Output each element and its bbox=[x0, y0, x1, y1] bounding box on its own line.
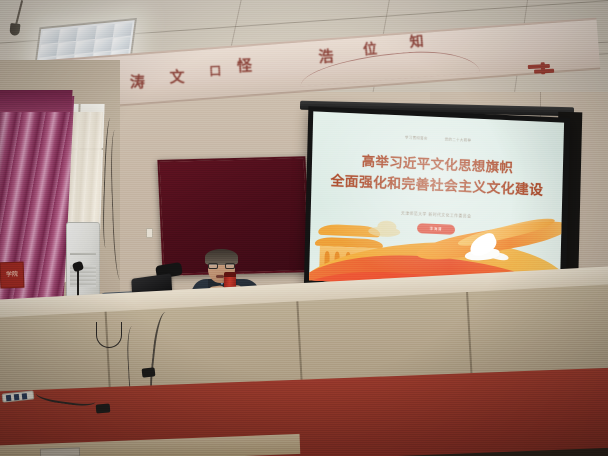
glasses-icon bbox=[208, 263, 235, 269]
cable-adapter bbox=[96, 403, 111, 413]
wall-outlet bbox=[146, 228, 153, 238]
plaque-text: 学院 bbox=[6, 271, 18, 278]
slide-presenter-badge: 李海清 bbox=[416, 223, 455, 234]
slide-subtitle: 天津师范大学 新时代文化工作委员会 bbox=[311, 206, 562, 223]
slide-top-label-2: 党的二十大精神 bbox=[445, 136, 472, 142]
banner-char: 浩 bbox=[318, 45, 334, 67]
curtain-rail bbox=[0, 90, 73, 112]
wall-plaque: 学院 bbox=[0, 262, 24, 289]
white-dove-icon bbox=[458, 233, 507, 269]
banner-char: 位 bbox=[362, 39, 377, 60]
hanging-cable bbox=[96, 322, 122, 348]
slide-title: 高举习近平文化思想旗帜 全面强化和完善社会主义文化建设 bbox=[311, 150, 563, 201]
banner-char: 口 bbox=[209, 62, 222, 79]
banner-char: 知 bbox=[409, 31, 424, 52]
banner-seal-right-icon bbox=[528, 61, 569, 77]
floor-vent bbox=[40, 447, 80, 456]
cable-clip bbox=[142, 367, 156, 377]
lecture-hall-photo: 之 涛 文 口 怪 浩 位 知 学院 bbox=[0, 0, 608, 456]
banner-char: 怪 bbox=[236, 54, 252, 76]
slide-top-labels: 学习贯彻落实 党的二十大精神 bbox=[313, 130, 564, 146]
banner-char: 涛 bbox=[130, 71, 146, 92]
projected-slide: 学习贯彻落实 党的二十大精神 高举习近平文化思想旗帜 全面强化和完善社会主义文化… bbox=[309, 111, 564, 291]
banner-char: 文 bbox=[169, 66, 185, 87]
slide-top-label-1: 学习贯彻落实 bbox=[405, 134, 428, 140]
